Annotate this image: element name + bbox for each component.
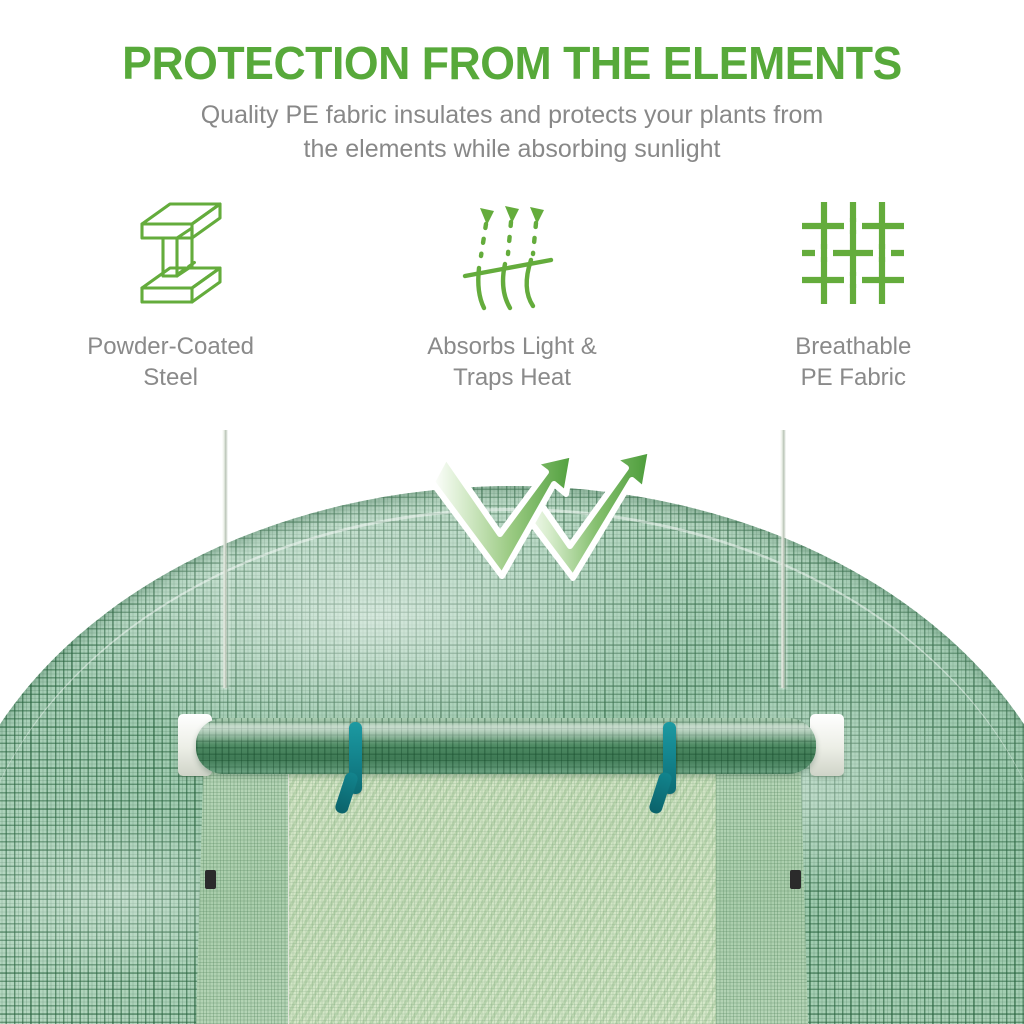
zipper-pull-left[interactable] [205, 870, 216, 889]
feature-item-powder-coated-steel: Powder-Coated Steel [21, 190, 321, 393]
feature-item-breathable-fabric: Breathable PE Fabric [703, 190, 1003, 393]
subtitle-line-1: Quality PE fabric insulates and protects… [0, 98, 1024, 132]
feature-caption: Absorbs Light & Traps Heat [427, 331, 596, 393]
subtitle-line-2: the elements while absorbing sunlight [0, 132, 1024, 166]
steel-i-beam-icon [112, 190, 230, 315]
feature-caption-line-1: Powder-Coated [87, 331, 254, 362]
zipper-pull-right[interactable] [790, 870, 801, 889]
door-flap-right-texture [716, 766, 808, 1024]
woven-mesh-fabric-icon [794, 190, 912, 315]
zipper-track-left[interactable] [222, 430, 228, 688]
feature-caption-line-1: Absorbs Light & [427, 331, 596, 362]
greenhouse-product-photo [0, 430, 1024, 1024]
feature-caption: Breathable PE Fabric [795, 331, 911, 393]
door-flap-left [196, 766, 288, 1024]
zipper-track-right[interactable] [780, 430, 786, 688]
tie-strap-left[interactable] [349, 722, 362, 794]
feature-item-absorbs-light: Absorbs Light & Traps Heat [362, 190, 662, 393]
feature-caption-line-2: PE Fabric [795, 362, 911, 393]
tie-strap-right[interactable] [663, 722, 676, 794]
page-subtitle: Quality PE fabric insulates and protects… [0, 98, 1024, 166]
door-flap-left-texture [196, 766, 288, 1024]
rolled-flap-highlight [196, 724, 816, 744]
door-flap-right [716, 766, 808, 1024]
page-title: PROTECTION FROM THE ELEMENTS [15, 36, 1008, 90]
sunlight-absorbing-hoops-icon [453, 190, 571, 315]
feature-caption-line-2: Steel [87, 362, 254, 393]
rising-heat-zigzag-arrows [430, 442, 700, 592]
feature-caption-line-2: Traps Heat [427, 362, 596, 393]
product-feature-graphic: PROTECTION FROM THE ELEMENTS Quality PE … [0, 0, 1024, 1024]
feature-caption: Powder-Coated Steel [87, 331, 254, 393]
rolled-up-door-flap[interactable] [196, 718, 816, 774]
feature-caption-line-1: Breathable [795, 331, 911, 362]
feature-list: Powder-Coated Steel [0, 190, 1024, 405]
